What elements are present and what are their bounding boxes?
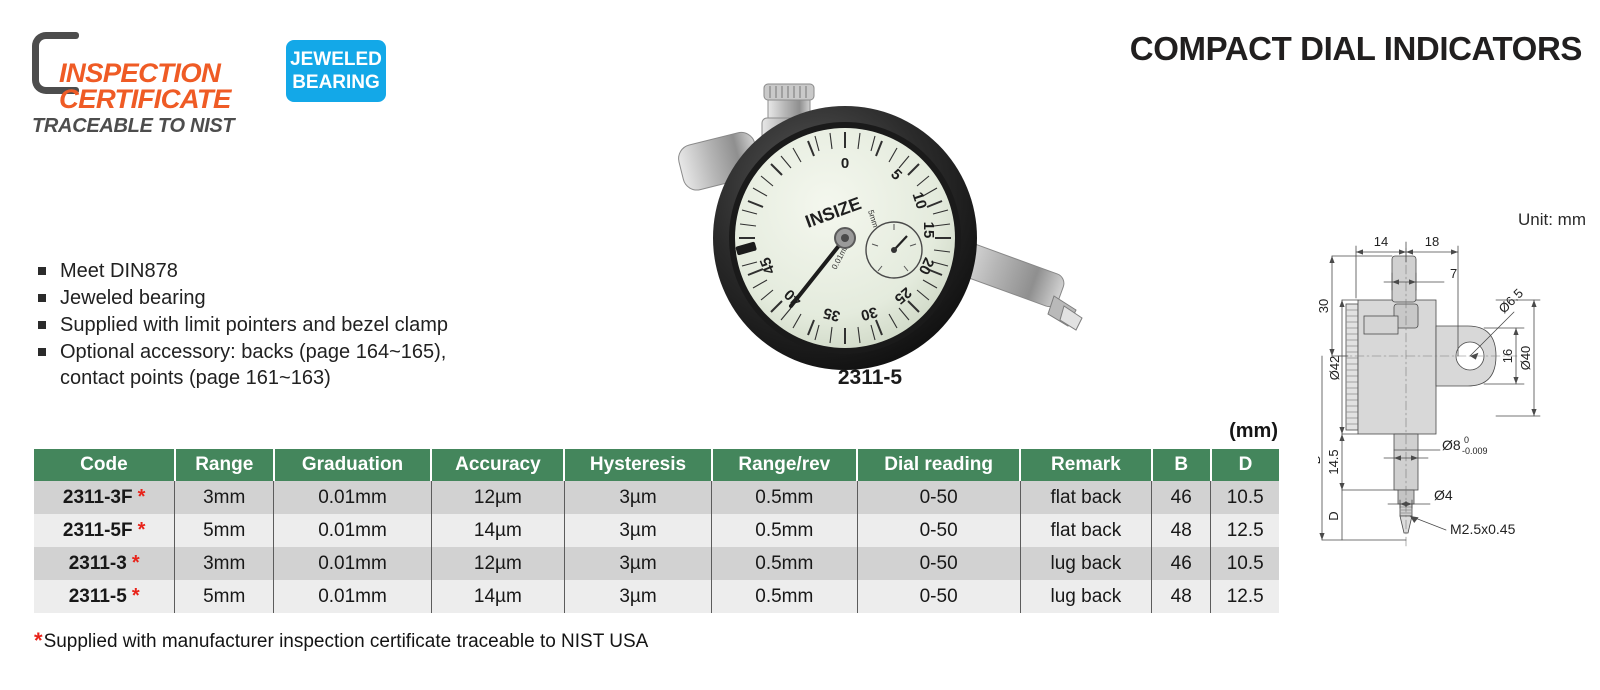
code-asterisk: * xyxy=(138,519,146,541)
badge-line2: BEARING xyxy=(292,71,380,94)
dim-7: 7 xyxy=(1450,266,1457,281)
feature-item: Supplied with limit pointers and bezel c… xyxy=(36,312,506,338)
dim-30: 30 xyxy=(1318,299,1331,313)
specification-table: Code Range Graduation Accuracy Hysteresi… xyxy=(34,449,1279,613)
cell-accuracy: 12µm xyxy=(431,547,564,580)
dim-dia8-tol-upper: 0 xyxy=(1464,435,1469,445)
badge-line1: JEWELED xyxy=(290,48,382,71)
feature-text: Meet DIN878 xyxy=(60,260,178,282)
cell-remark: lug back xyxy=(1020,547,1151,580)
cell-graduation: 0.01mm xyxy=(274,580,432,613)
code-text: 2311-3 xyxy=(69,553,127,574)
col-range: Range xyxy=(175,449,274,481)
table-row: 2311-5* 5mm 0.01mm 14µm 3µm 0.5mm 0-50 l… xyxy=(34,580,1279,613)
footnote-text: Supplied with manufacturer inspection ce… xyxy=(44,631,649,652)
cell-hysteresis: 3µm xyxy=(564,481,711,514)
cell-hysteresis: 3µm xyxy=(564,514,711,547)
svg-text:0: 0 xyxy=(841,155,849,172)
cell-range-rev: 0.5mm xyxy=(712,514,857,547)
code-asterisk: * xyxy=(132,585,140,607)
col-d: D xyxy=(1211,449,1279,481)
table-row: 2311-3F* 3mm 0.01mm 12µm 3µm 0.5mm 0-50 … xyxy=(34,481,1279,514)
inspection-certificate-logo: INSPECTION CERTIFICATE TRACEABLE TO NIST xyxy=(32,32,282,122)
cell-dial-reading: 0-50 xyxy=(857,481,1020,514)
col-dial-reading: Dial reading xyxy=(857,449,1020,481)
cell-hysteresis: 3µm xyxy=(564,580,711,613)
cell-remark: lug back xyxy=(1020,580,1151,613)
code-asterisk: * xyxy=(132,552,140,574)
cell-d: 10.5 xyxy=(1211,547,1279,580)
dim-D: D xyxy=(1326,511,1341,520)
cell-range: 3mm xyxy=(175,481,274,514)
cell-d: 12.5 xyxy=(1211,580,1279,613)
table-footnote: *Supplied with manufacturer inspection c… xyxy=(34,628,648,654)
cell-hysteresis: 3µm xyxy=(564,547,711,580)
cell-accuracy: 14µm xyxy=(431,514,564,547)
col-code: Code xyxy=(34,449,175,481)
feature-text: Jeweled bearing xyxy=(60,287,206,309)
feature-item: Jeweled bearing xyxy=(36,285,506,311)
table-row: 2311-3* 3mm 0.01mm 12µm 3µm 0.5mm 0-50 l… xyxy=(34,547,1279,580)
cell-accuracy: 12µm xyxy=(431,481,564,514)
cell-range-rev: 0.5mm xyxy=(712,481,857,514)
bullet-square-icon xyxy=(38,267,46,275)
cell-dial-reading: 0-50 xyxy=(857,514,1020,547)
cell-graduation: 0.01mm xyxy=(274,481,432,514)
dim-B: B xyxy=(1318,456,1323,465)
cell-dial-reading: 0-50 xyxy=(857,547,1020,580)
col-accuracy: Accuracy xyxy=(431,449,564,481)
dim-dia42: Ø42 xyxy=(1327,356,1342,381)
bullet-square-icon xyxy=(38,294,46,302)
bullet-square-icon xyxy=(38,348,46,356)
certificate-line2: CERTIFICATE xyxy=(59,84,231,115)
jeweled-bearing-badge: JEWELED BEARING xyxy=(286,40,386,102)
code-text: 2311-3F xyxy=(63,487,133,508)
col-b: B xyxy=(1152,449,1211,481)
cell-b: 46 xyxy=(1152,547,1211,580)
dim-18: 18 xyxy=(1425,234,1439,249)
cell-d: 12.5 xyxy=(1211,514,1279,547)
cell-dial-reading: 0-50 xyxy=(857,580,1020,613)
certificate-line3: TRACEABLE TO NIST xyxy=(32,115,234,138)
cell-code: 2311-3* xyxy=(34,547,175,580)
dim-14-5: 14.5 xyxy=(1326,449,1341,474)
cell-code: 2311-3F* xyxy=(34,481,175,514)
cell-code: 2311-5* xyxy=(34,580,175,613)
feature-text: Optional accessory: backs (page 164~165)… xyxy=(60,341,446,363)
dim-dia8: Ø8 xyxy=(1442,437,1461,453)
drawing-unit-label: Unit: mm xyxy=(1518,210,1586,230)
feature-item: Meet DIN878 xyxy=(36,258,506,284)
cell-b: 48 xyxy=(1152,580,1211,613)
cell-accuracy: 14µm xyxy=(431,580,564,613)
table-row: 2311-5F* 5mm 0.01mm 14µm 3µm 0.5mm 0-50 … xyxy=(34,514,1279,547)
footnote-asterisk: * xyxy=(34,628,43,653)
dim-dia40: Ø40 xyxy=(1518,346,1533,371)
dim-dia6-5: Ø6.5 xyxy=(1496,286,1527,317)
col-range-rev: Range/rev xyxy=(712,449,857,481)
code-text: 2311-5 xyxy=(69,586,127,607)
dim-14: 14 xyxy=(1374,234,1388,249)
col-hysteresis: Hysteresis xyxy=(564,449,711,481)
bullet-square-icon xyxy=(38,321,46,329)
cell-range: 5mm xyxy=(175,580,274,613)
dim-16: 16 xyxy=(1500,349,1515,363)
dim-dia8-tol-lower: -0.009 xyxy=(1462,446,1488,456)
code-text: 2311-5F xyxy=(63,520,133,541)
feature-text: Supplied with limit pointers and bezel c… xyxy=(60,314,448,336)
table-unit-note: (mm) xyxy=(1229,420,1278,443)
catalog-page: INSPECTION CERTIFICATE TRACEABLE TO NIST… xyxy=(0,0,1600,690)
col-graduation: Graduation xyxy=(274,449,432,481)
cell-range-rev: 0.5mm xyxy=(712,547,857,580)
cell-b: 46 xyxy=(1152,481,1211,514)
product-caption: 2311-5 xyxy=(650,366,1090,390)
product-image: 0 5 10 15 20 25 30 35 40 45 INSIZE 5mm 0… xyxy=(650,78,1090,408)
feature-list: Meet DIN878 Jeweled bearing Supplied wit… xyxy=(36,258,506,391)
svg-text:15: 15 xyxy=(920,222,937,239)
code-asterisk: * xyxy=(138,486,146,508)
dim-dia4: Ø4 xyxy=(1434,487,1453,503)
cell-range: 3mm xyxy=(175,547,274,580)
dim-thread: M2.5x0.45 xyxy=(1450,521,1516,537)
page-title: COMPACT DIAL INDICATORS xyxy=(1130,30,1582,68)
cell-graduation: 0.01mm xyxy=(274,514,432,547)
table-header-row: Code Range Graduation Accuracy Hysteresi… xyxy=(34,449,1279,481)
feature-item: Optional accessory: backs (page 164~165)… xyxy=(36,339,506,391)
cell-range-rev: 0.5mm xyxy=(712,580,857,613)
cell-range: 5mm xyxy=(175,514,274,547)
col-remark: Remark xyxy=(1020,449,1151,481)
feature-text-continued: contact points (page 161~163) xyxy=(60,365,506,391)
technical-drawing: 14 18 7 30 xyxy=(1318,228,1598,568)
cell-remark: flat back xyxy=(1020,514,1151,547)
cell-remark: flat back xyxy=(1020,481,1151,514)
cell-code: 2311-5F* xyxy=(34,514,175,547)
cell-d: 10.5 xyxy=(1211,481,1279,514)
cell-graduation: 0.01mm xyxy=(274,547,432,580)
cell-b: 48 xyxy=(1152,514,1211,547)
